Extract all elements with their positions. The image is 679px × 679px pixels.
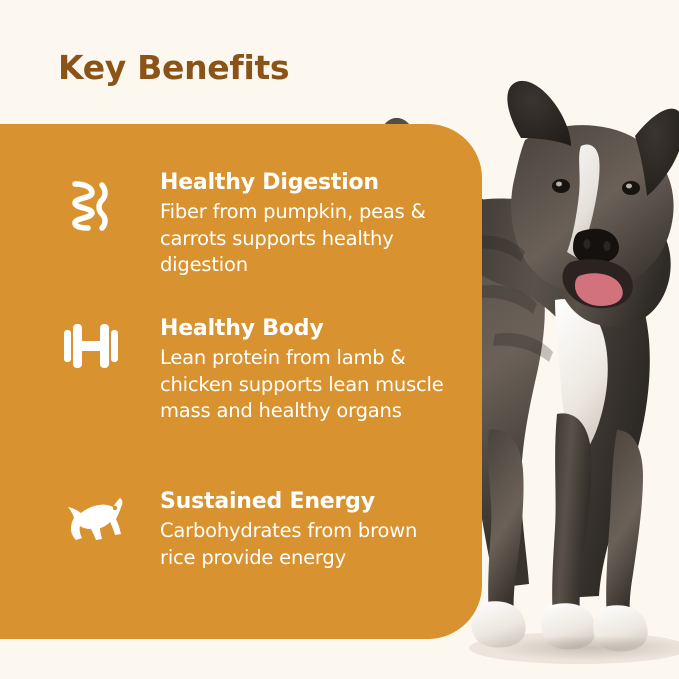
benefit-item-healthy-digestion: Healthy Digestion Fiber from pumpkin, pe… <box>62 170 462 279</box>
benefit-description: Fiber from pumpkin, peas & carrots suppo… <box>160 199 452 279</box>
benefit-text: Healthy Body Lean protein from lamb & ch… <box>160 316 452 425</box>
product-benefits-graphic: Key Benefits Healthy Digestion Fiber fro… <box>0 0 679 679</box>
benefit-title: Healthy Digestion <box>160 170 452 196</box>
running-dog-icon <box>62 489 160 543</box>
benefit-item-sustained-energy: Sustained Energy Carbohydrates from brow… <box>62 489 462 571</box>
benefit-title: Sustained Energy <box>160 489 452 515</box>
benefit-text: Sustained Energy Carbohydrates from brow… <box>160 489 452 571</box>
dumbbell-icon <box>62 316 160 370</box>
benefits-panel: Healthy Digestion Fiber from pumpkin, pe… <box>0 124 482 639</box>
benefit-title: Healthy Body <box>160 316 452 342</box>
benefit-description: Lean protein from lamb & chicken support… <box>160 345 452 425</box>
page-title: Key Benefits <box>58 48 289 87</box>
floor-shadow <box>489 635 679 661</box>
benefit-item-healthy-body: Healthy Body Lean protein from lamb & ch… <box>62 316 462 425</box>
intestine-icon <box>62 170 160 234</box>
benefit-description: Carbohydrates from brown rice provide en… <box>160 518 452 571</box>
benefit-text: Healthy Digestion Fiber from pumpkin, pe… <box>160 170 452 279</box>
